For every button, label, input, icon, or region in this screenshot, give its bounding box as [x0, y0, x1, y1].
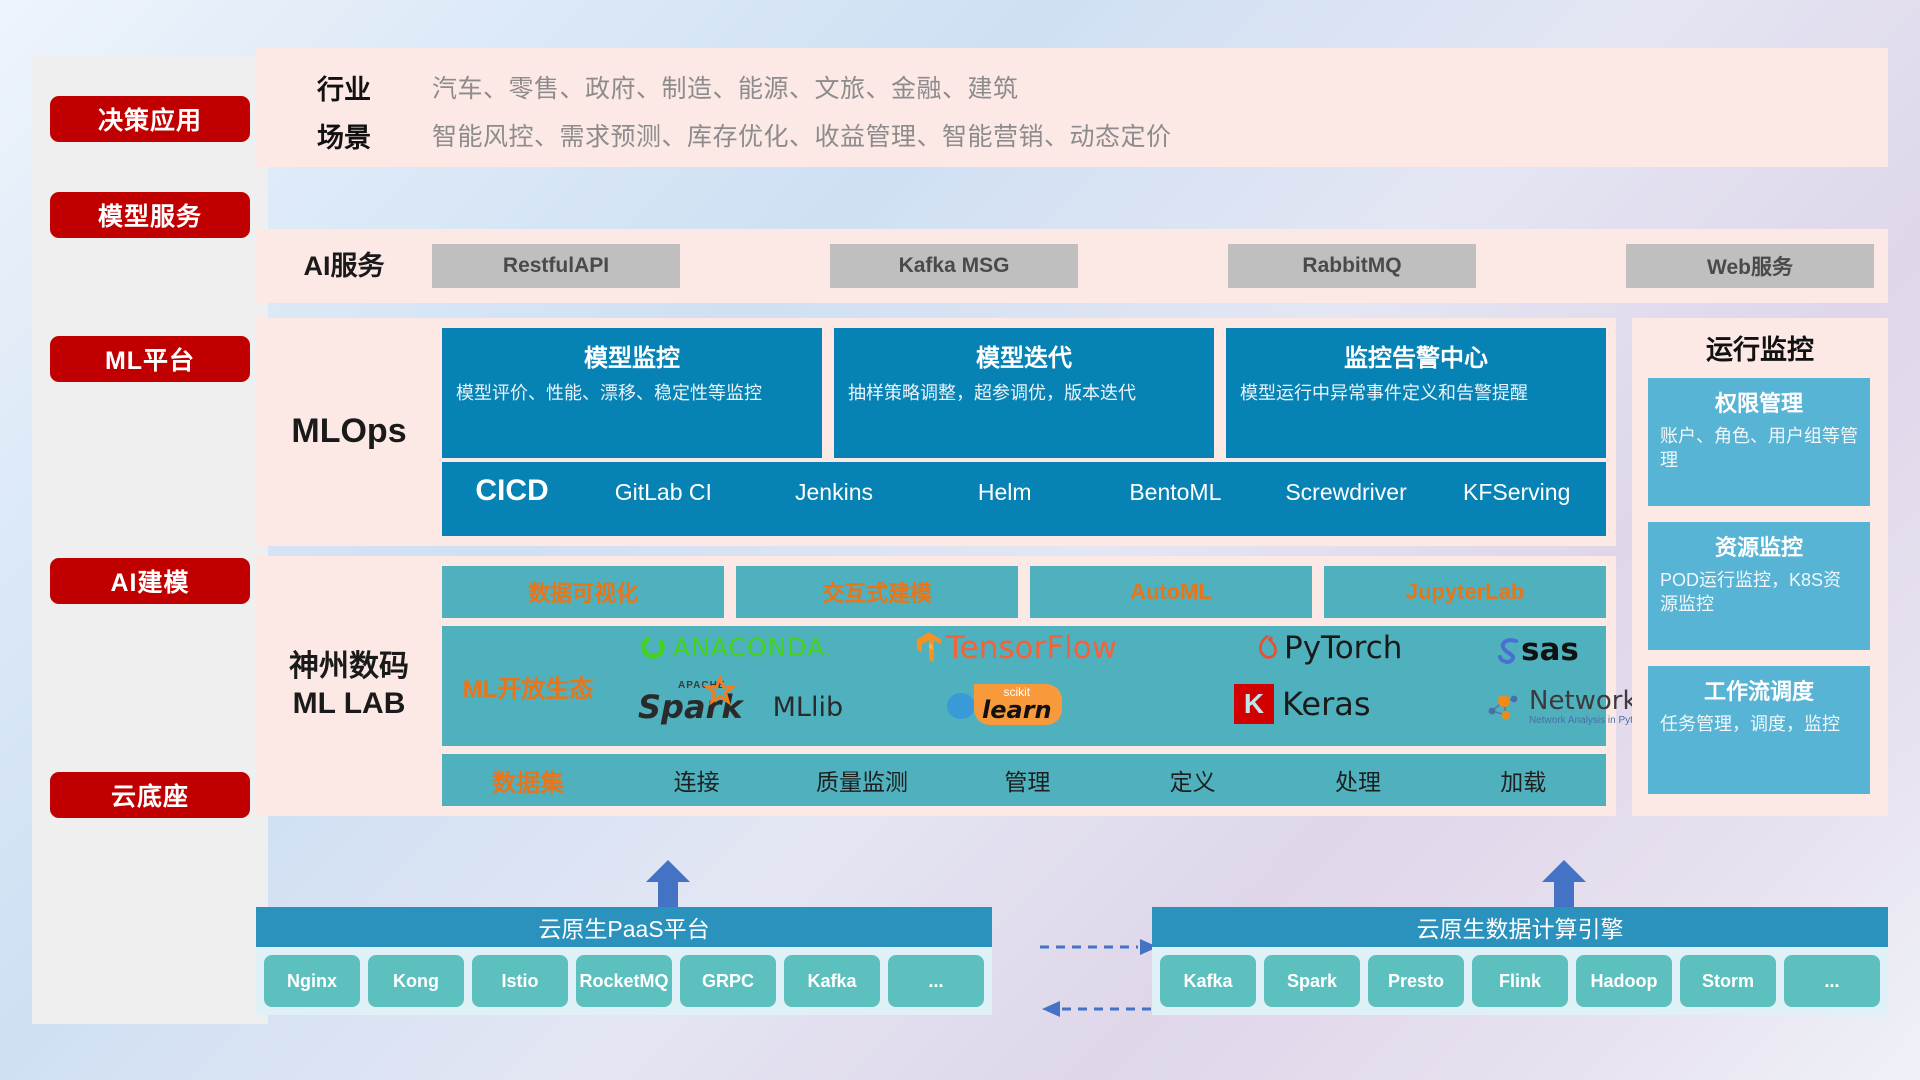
- cloud-native-paas-group: 云原生PaaS平台 Nginx Kong Istio RocketMQ GRPC…: [256, 907, 992, 1015]
- keras-mark: K: [1234, 684, 1274, 724]
- engine-chip-presto[interactable]: Presto: [1368, 955, 1464, 1007]
- ai-service-chip-list: RestfulAPI Kafka MSG RabbitMQ Web服务: [432, 244, 1874, 288]
- mllib-logo-text: MLlib: [773, 692, 843, 723]
- service-chip-kafka-msg[interactable]: Kafka MSG: [830, 244, 1078, 288]
- rail-item-ml-platform[interactable]: ML平台: [50, 336, 250, 382]
- mlops-card-list: 模型监控 模型评价、性能、漂移、稳定性等监控 模型迭代 抽样策略调整，超参调优，…: [442, 328, 1606, 458]
- cicd-strip: CICD GitLab CI Jenkins Helm BentoML Scre…: [442, 462, 1606, 536]
- monitoring-card-title: 权限管理: [1660, 386, 1858, 418]
- monitoring-card-permission[interactable]: 权限管理 账户、角色、用户组等管理: [1648, 378, 1870, 506]
- cloud-chip-rocketmq[interactable]: RocketMQ: [576, 955, 672, 1007]
- cloud-native-data-engine-group: 云原生数据计算引擎 Kafka Spark Presto Flink Hadoo…: [1152, 907, 1888, 1015]
- scenario-row: 场景 智能风控、需求预测、库存优化、收益管理、智能营销、动态定价: [256, 110, 1888, 160]
- ai-service-label: AI服务: [256, 229, 432, 303]
- engine-chip-kafka[interactable]: Kafka: [1160, 955, 1256, 1007]
- cloud-paas-chip-list: Nginx Kong Istio RocketMQ GRPC Kafka ...: [256, 947, 992, 1015]
- up-arrow-engine: [1538, 858, 1590, 910]
- dataset-item-connect[interactable]: 连接: [614, 763, 779, 797]
- mlops-card-alert-center[interactable]: 监控告警中心 模型运行中异常事件定义和告警提醒: [1226, 328, 1606, 458]
- cicd-label: CICD: [446, 476, 578, 506]
- industry-row: 行业 汽车、零售、政府、制造、能源、文旅、金融、建筑: [256, 62, 1888, 112]
- mlops-card-title: 模型监控: [456, 338, 808, 373]
- cloud-chip-more[interactable]: ...: [888, 955, 984, 1007]
- monitoring-card-resource[interactable]: 资源监控 POD运行监控，K8S资源监控: [1648, 522, 1870, 650]
- mlops-label: MLOps: [256, 318, 442, 546]
- ml-lab-label: 神州数码 ML LAB: [256, 556, 442, 816]
- learn-logo-text: learn: [982, 698, 1052, 722]
- cloud-paas-title: 云原生PaaS平台: [256, 907, 992, 947]
- mlops-card-title: 监控告警中心: [1240, 338, 1592, 373]
- mlops-card-model-iteration[interactable]: 模型迭代 抽样策略调整，超参调优，版本迭代: [834, 328, 1214, 458]
- layer-rail: 决策应用 模型服务 ML平台 AI建模 云底座: [32, 56, 268, 1024]
- cicd-item-bentoml[interactable]: BentoML: [1090, 476, 1261, 507]
- mlops-card-desc: 模型评价、性能、漂移、稳定性等监控: [456, 381, 808, 405]
- anaconda-logo: ANACONDA.: [638, 632, 834, 662]
- ai-service-band: AI服务 RestfulAPI Kafka MSG RabbitMQ Web服务: [256, 229, 1888, 303]
- runtime-monitoring-band: 运行监控 权限管理 账户、角色、用户组等管理 资源监控 POD运行监控，K8S资…: [1632, 318, 1888, 816]
- mlops-card-desc: 抽样策略调整，超参调优，版本迭代: [848, 381, 1200, 405]
- pytorch-logo-text: PyTorch: [1284, 630, 1402, 666]
- dashed-connector-right: [1040, 938, 1160, 956]
- cloud-chip-grpc[interactable]: GRPC: [680, 955, 776, 1007]
- cicd-item-jenkins[interactable]: Jenkins: [749, 476, 920, 507]
- lab-tab-interactive-modeling[interactable]: 交互式建模: [736, 566, 1018, 618]
- service-chip-restfulapi[interactable]: RestfulAPI: [432, 244, 680, 288]
- dataset-strip: 数据集 连接 质量监测 管理 定义 处理 加载: [442, 754, 1606, 806]
- industry-values: 汽车、零售、政府、制造、能源、文旅、金融、建筑: [432, 69, 1019, 105]
- ml-open-ecosystem-box: ML开放生态 ANACONDA. TensorFlow: [442, 626, 1606, 746]
- cloud-chip-kong[interactable]: Kong: [368, 955, 464, 1007]
- dataset-item-load[interactable]: 加载: [1441, 763, 1606, 797]
- keras-logo-text: Keras: [1282, 685, 1371, 723]
- cloud-chip-istio[interactable]: Istio: [472, 955, 568, 1007]
- sas-logo: sas: [1494, 632, 1579, 668]
- engine-chip-more[interactable]: ...: [1784, 955, 1880, 1007]
- cicd-item-gitlab-ci[interactable]: GitLab CI: [578, 476, 749, 507]
- decision-app-band: 行业 汽车、零售、政府、制造、能源、文旅、金融、建筑 场景 智能风控、需求预测、…: [256, 48, 1888, 167]
- spark-mllib-logo: APACHE Spark MLlib: [638, 688, 843, 726]
- cicd-item-helm[interactable]: Helm: [919, 476, 1090, 507]
- rail-item-decision-app[interactable]: 决策应用: [50, 96, 250, 142]
- tensorflow-logo: TensorFlow: [914, 630, 1117, 666]
- scenario-values: 智能风控、需求预测、库存优化、收益管理、智能营销、动态定价: [432, 117, 1172, 153]
- ml-lab-band: 神州数码 ML LAB 数据可视化 交互式建模 AutoML JupyterLa…: [256, 556, 1616, 816]
- cloud-engine-chip-list: Kafka Spark Presto Flink Hadoop Storm ..…: [1152, 947, 1888, 1015]
- ml-lab-label-line1: 神州数码: [289, 649, 409, 686]
- rail-item-model-service[interactable]: 模型服务: [50, 192, 250, 238]
- keras-logo: K Keras: [1234, 684, 1371, 724]
- runtime-monitoring-title: 运行监控: [1632, 328, 1888, 367]
- sas-logo-text: sas: [1521, 632, 1579, 668]
- monitoring-card-workflow[interactable]: 工作流调度 任务管理，调度，监控: [1648, 666, 1870, 794]
- ecosystem-logo-grid: ANACONDA. TensorFlow PyTorch: [614, 626, 1606, 746]
- dataset-item-process[interactable]: 处理: [1275, 763, 1440, 797]
- cloud-chip-nginx[interactable]: Nginx: [264, 955, 360, 1007]
- dataset-item-quality-check[interactable]: 质量监测: [779, 763, 944, 797]
- anaconda-logo-text: ANACONDA.: [673, 633, 834, 662]
- ml-lab-tab-list: 数据可视化 交互式建模 AutoML JupyterLab: [442, 566, 1606, 618]
- dataset-label: 数据集: [442, 763, 614, 798]
- engine-chip-hadoop[interactable]: Hadoop: [1576, 955, 1672, 1007]
- service-chip-rabbitmq[interactable]: RabbitMQ: [1228, 244, 1476, 288]
- monitoring-card-desc: 任务管理，调度，监控: [1660, 712, 1858, 736]
- scikit-learn-logo: scikit learn: [944, 684, 1062, 725]
- monitoring-card-title: 资源监控: [1660, 530, 1858, 562]
- mlops-card-model-monitoring[interactable]: 模型监控 模型评价、性能、漂移、稳定性等监控: [442, 328, 822, 458]
- service-chip-web[interactable]: Web服务: [1626, 244, 1874, 288]
- networkx-logo: NetworkX Network Analysis in Python: [1484, 688, 1655, 728]
- monitoring-card-title: 工作流调度: [1660, 674, 1858, 706]
- scenario-label: 场景: [256, 116, 432, 155]
- lab-tab-jupyterlab[interactable]: JupyterLab: [1324, 566, 1606, 618]
- engine-chip-storm[interactable]: Storm: [1680, 955, 1776, 1007]
- cloud-engine-title: 云原生数据计算引擎: [1152, 907, 1888, 947]
- industry-label: 行业: [256, 68, 432, 107]
- ml-open-ecosystem-title: ML开放生态: [442, 669, 614, 704]
- up-arrow-paas: [642, 858, 694, 910]
- tensorflow-logo-text: TensorFlow: [946, 630, 1117, 666]
- mlops-card-title: 模型迭代: [848, 338, 1200, 373]
- rail-item-cloud-base[interactable]: 云底座: [50, 772, 250, 818]
- dataset-item-manage[interactable]: 管理: [945, 763, 1110, 797]
- monitoring-card-desc: 账户、角色、用户组等管理: [1660, 424, 1858, 472]
- cicd-item-kfserving[interactable]: KFServing: [1431, 476, 1602, 507]
- lab-tab-automl[interactable]: AutoML: [1030, 566, 1312, 618]
- lab-tab-data-visualization[interactable]: 数据可视化: [442, 566, 724, 618]
- mlops-band: MLOps 模型监控 模型评价、性能、漂移、稳定性等监控 模型迭代 抽样策略调整…: [256, 318, 1616, 546]
- cicd-item-screwdriver[interactable]: Screwdriver: [1261, 476, 1432, 507]
- mlops-card-desc: 模型运行中异常事件定义和告警提醒: [1240, 381, 1592, 405]
- engine-chip-flink[interactable]: Flink: [1472, 955, 1568, 1007]
- pytorch-logo: PyTorch: [1254, 630, 1402, 666]
- dataset-item-define[interactable]: 定义: [1110, 763, 1275, 797]
- monitoring-card-desc: POD运行监控，K8S资源监控: [1660, 568, 1858, 616]
- dashed-connector-left: [1040, 1000, 1160, 1018]
- ml-lab-label-line2: ML LAB: [293, 686, 406, 723]
- rail-item-ai-modeling[interactable]: AI建模: [50, 558, 250, 604]
- engine-chip-spark[interactable]: Spark: [1264, 955, 1360, 1007]
- cloud-chip-kafka[interactable]: Kafka: [784, 955, 880, 1007]
